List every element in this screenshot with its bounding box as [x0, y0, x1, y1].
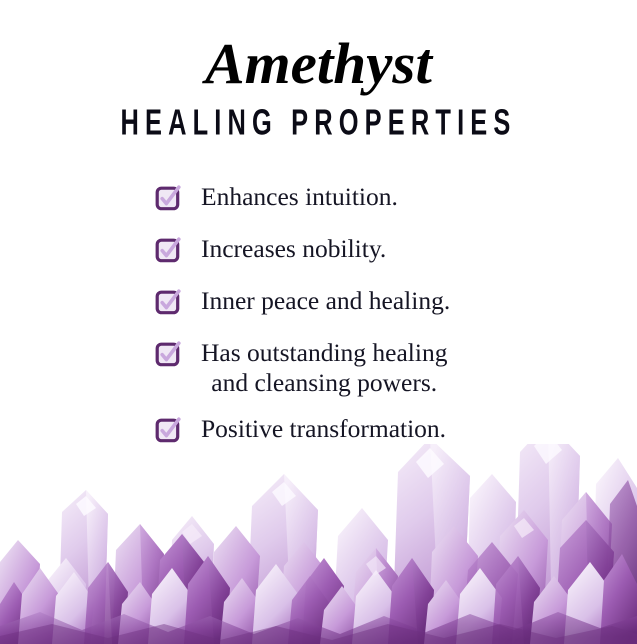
checkbox-checked-icon: [155, 237, 182, 264]
poster-header: Amethyst HEALING PROPERTIES: [0, 0, 637, 137]
list-item-label: Positive transformation.: [201, 414, 446, 444]
checkbox-checked-icon: [155, 417, 182, 444]
page-subtitle: HEALING PROPERTIES: [57, 103, 579, 142]
checkbox-checked-icon: [155, 185, 182, 212]
list-item-label: Inner peace and healing.: [201, 286, 450, 316]
list-item-label: Increases nobility.: [201, 234, 386, 264]
healing-properties-list: Enhances intuition. Increases nobility. …: [155, 182, 575, 466]
list-item: Inner peace and healing.: [155, 286, 575, 316]
list-item: Has outstanding healing and cleansing po…: [155, 338, 575, 398]
list-item: Increases nobility.: [155, 234, 575, 264]
checkbox-checked-icon: [155, 289, 182, 316]
list-item: Positive transformation.: [155, 414, 575, 444]
amethyst-healing-properties-poster: Amethyst HEALING PROPERTIES Enhances int…: [0, 0, 637, 644]
list-item-label: Enhances intuition.: [201, 182, 398, 212]
checkbox-checked-icon: [155, 341, 182, 368]
amethyst-crystal-cluster-photo: [0, 444, 637, 644]
list-item: Enhances intuition.: [155, 182, 575, 212]
list-item-label: Has outstanding healing and cleansing po…: [201, 338, 447, 398]
page-title: Amethyst: [0, 33, 637, 95]
